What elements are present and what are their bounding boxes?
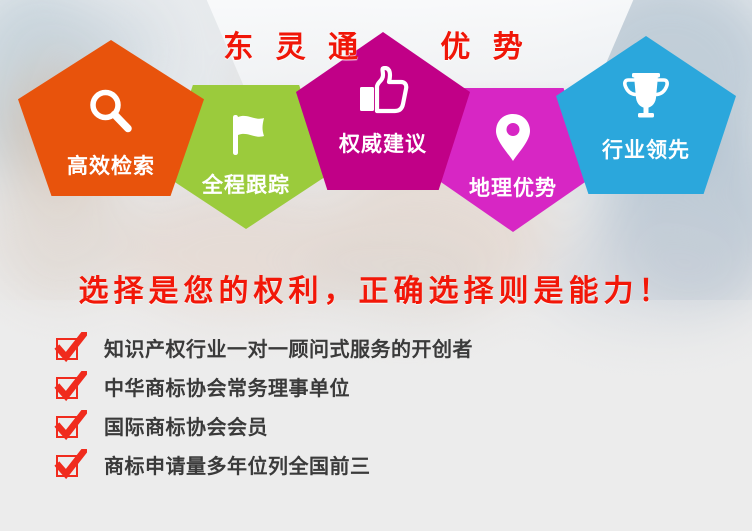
feature-pentagon-leading[interactable]: 行业领先 bbox=[556, 36, 736, 194]
feature-pentagon-advice[interactable]: 权威建议 bbox=[296, 32, 470, 190]
benefit-list: 知识产权行业一对一顾问式服务的开创者 中华商标协会常务理事单位 国际商标协会会员 bbox=[55, 328, 473, 484]
list-item: 知识产权行业一对一顾问式服务的开创者 bbox=[55, 328, 473, 367]
slogan: 选择是您的权利，正确选择则是能力！ bbox=[0, 266, 752, 310]
checkbox-checked-icon bbox=[55, 413, 80, 438]
checkbox-checked-icon bbox=[55, 452, 80, 477]
checkbox-checked-icon bbox=[55, 335, 80, 360]
benefit-text: 中华商标协会常务理事单位 bbox=[104, 372, 350, 401]
pentagon-shape-blue bbox=[556, 36, 736, 194]
list-item: 国际商标协会会员 bbox=[55, 406, 473, 445]
slogan-text: 选择是您的权利，正确选择则是能力！ bbox=[79, 274, 674, 309]
benefit-text: 国际商标协会会员 bbox=[104, 411, 268, 440]
list-item: 中华商标协会常务理事单位 bbox=[55, 367, 473, 406]
pentagon-shape-orange bbox=[18, 40, 204, 196]
feature-pentagon-search[interactable]: 高效检索 bbox=[18, 40, 204, 196]
benefit-text: 知识产权行业一对一顾问式服务的开创者 bbox=[104, 333, 473, 362]
benefit-text: 商标申请量多年位列全国前三 bbox=[104, 450, 371, 479]
list-item: 商标申请量多年位列全国前三 bbox=[55, 445, 473, 484]
feature-pentagon-group: 高效检索 全程跟踪 bbox=[0, 0, 752, 270]
checkbox-checked-icon bbox=[55, 374, 80, 399]
pentagon-shape-magenta bbox=[296, 32, 470, 190]
promo-banner: 东 灵 通 优 势 高效检索 bbox=[0, 0, 752, 531]
